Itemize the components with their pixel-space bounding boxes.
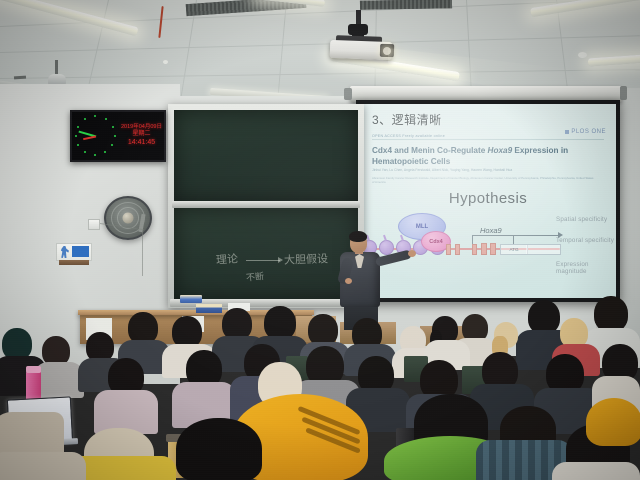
projected-slide: 3、逻辑清晰 PLOS ONE OPEN ACCESS Freely avail… [360, 104, 616, 298]
chalk-arrow [246, 260, 280, 261]
student-head-front-dark [176, 418, 262, 480]
coding-region [526, 244, 561, 255]
slide-subtitle-hypothesis: Hypothesis [360, 190, 616, 207]
digital-wall-clock: 2019年04月09日 星期二 14:41:45 [70, 110, 166, 162]
exon-1 [446, 244, 451, 255]
presenter-left-hand [345, 278, 352, 284]
blackboard-panel-lower: 理论 大胆假设 不断 [174, 208, 358, 300]
desk-chalk-box [196, 304, 222, 313]
clock-time: 14:41:45 [119, 139, 164, 148]
student-head-back-7 [264, 306, 296, 340]
roller-end-cap-right [620, 86, 627, 100]
logo-text: PLOS ONE [571, 129, 606, 135]
outcome-temporal: Temporal specificity [556, 237, 614, 244]
chalk-box [180, 295, 202, 303]
atg-start-codon: ATG [500, 244, 528, 255]
projector-lens [383, 47, 391, 55]
paper-title-pre: Cdx4 and Menin Co-Regulate [372, 146, 488, 155]
chalk-note-left: 理论 [215, 250, 238, 267]
exon-2 [455, 244, 460, 255]
student-body-front-far-left [0, 452, 86, 480]
clock-weekday: 星期二 [119, 131, 164, 139]
safety-notice-sign [56, 243, 92, 261]
presenter-hair [349, 231, 367, 242]
logo-square-icon [565, 130, 569, 134]
chalk-note-right: 大胆假设 [284, 250, 329, 268]
blackboard-rail [172, 201, 360, 208]
sign-blue-panel [72, 246, 89, 257]
clock-analog-dial [73, 113, 119, 159]
student-body-front-right [552, 462, 640, 480]
outcome-magnitude: Expression magnitude [556, 261, 616, 275]
student-yellow-hoodie-right [586, 398, 640, 446]
clock-hand-hour [83, 136, 96, 140]
paper-title: Cdx4 and Menin Co-Regulate Hoxa9 Express… [372, 145, 596, 167]
ceiling-sensor-3 [578, 52, 587, 58]
student-body-left-2 [34, 362, 84, 398]
lecture-hall-photo: 3、逻辑清晰 PLOS ONE OPEN ACCESS Freely avail… [0, 0, 640, 480]
expression-arrow-line [512, 235, 560, 236]
exon-3 [472, 244, 477, 255]
journal-divider [372, 139, 604, 140]
blackboard-panel-upper [174, 110, 358, 202]
gene-span-bracket [472, 235, 514, 244]
student-head-back-2 [594, 296, 628, 332]
presenter-pointing-hand [408, 250, 416, 257]
journal-kicker: OPEN ACCESS Freely available online [372, 134, 445, 138]
worker-figure-icon [60, 246, 69, 258]
pink-bottle-cap [26, 366, 41, 373]
paper-affiliation: Abramson Family Cancer Research Institut… [372, 176, 594, 185]
chalk-arrow-head [278, 257, 283, 263]
paper-authors: Jinhui Yan, Lu Chen, Angela Ferstwald, A… [372, 168, 594, 173]
wall-fan-hub [123, 213, 134, 224]
clock-readout: 2019年04月09日 星期二 14:41:45 [119, 124, 164, 147]
chalk-note-below: 不断 [245, 269, 264, 284]
paper-title-gene: Hoxa9 [488, 146, 513, 155]
slide-section-heading: 3、逻辑清晰 [372, 111, 442, 128]
roller-end-cap-left [344, 88, 352, 100]
outcome-spatial: Spatial specificity [556, 216, 607, 223]
exon-5 [490, 243, 496, 255]
hoxa9-gene-label: Hoxa9 [480, 226, 502, 235]
exon-4 [481, 243, 487, 255]
ceiling-sensor-1 [163, 60, 168, 64]
wall-fan-pull-cord [142, 232, 143, 276]
plos-one-logo: PLOS ONE [565, 129, 606, 135]
student-head-back-1 [528, 300, 560, 334]
ceiling-vent-right [360, 0, 452, 10]
sign-wooden-base [59, 260, 89, 265]
wall-outlet [88, 219, 100, 230]
